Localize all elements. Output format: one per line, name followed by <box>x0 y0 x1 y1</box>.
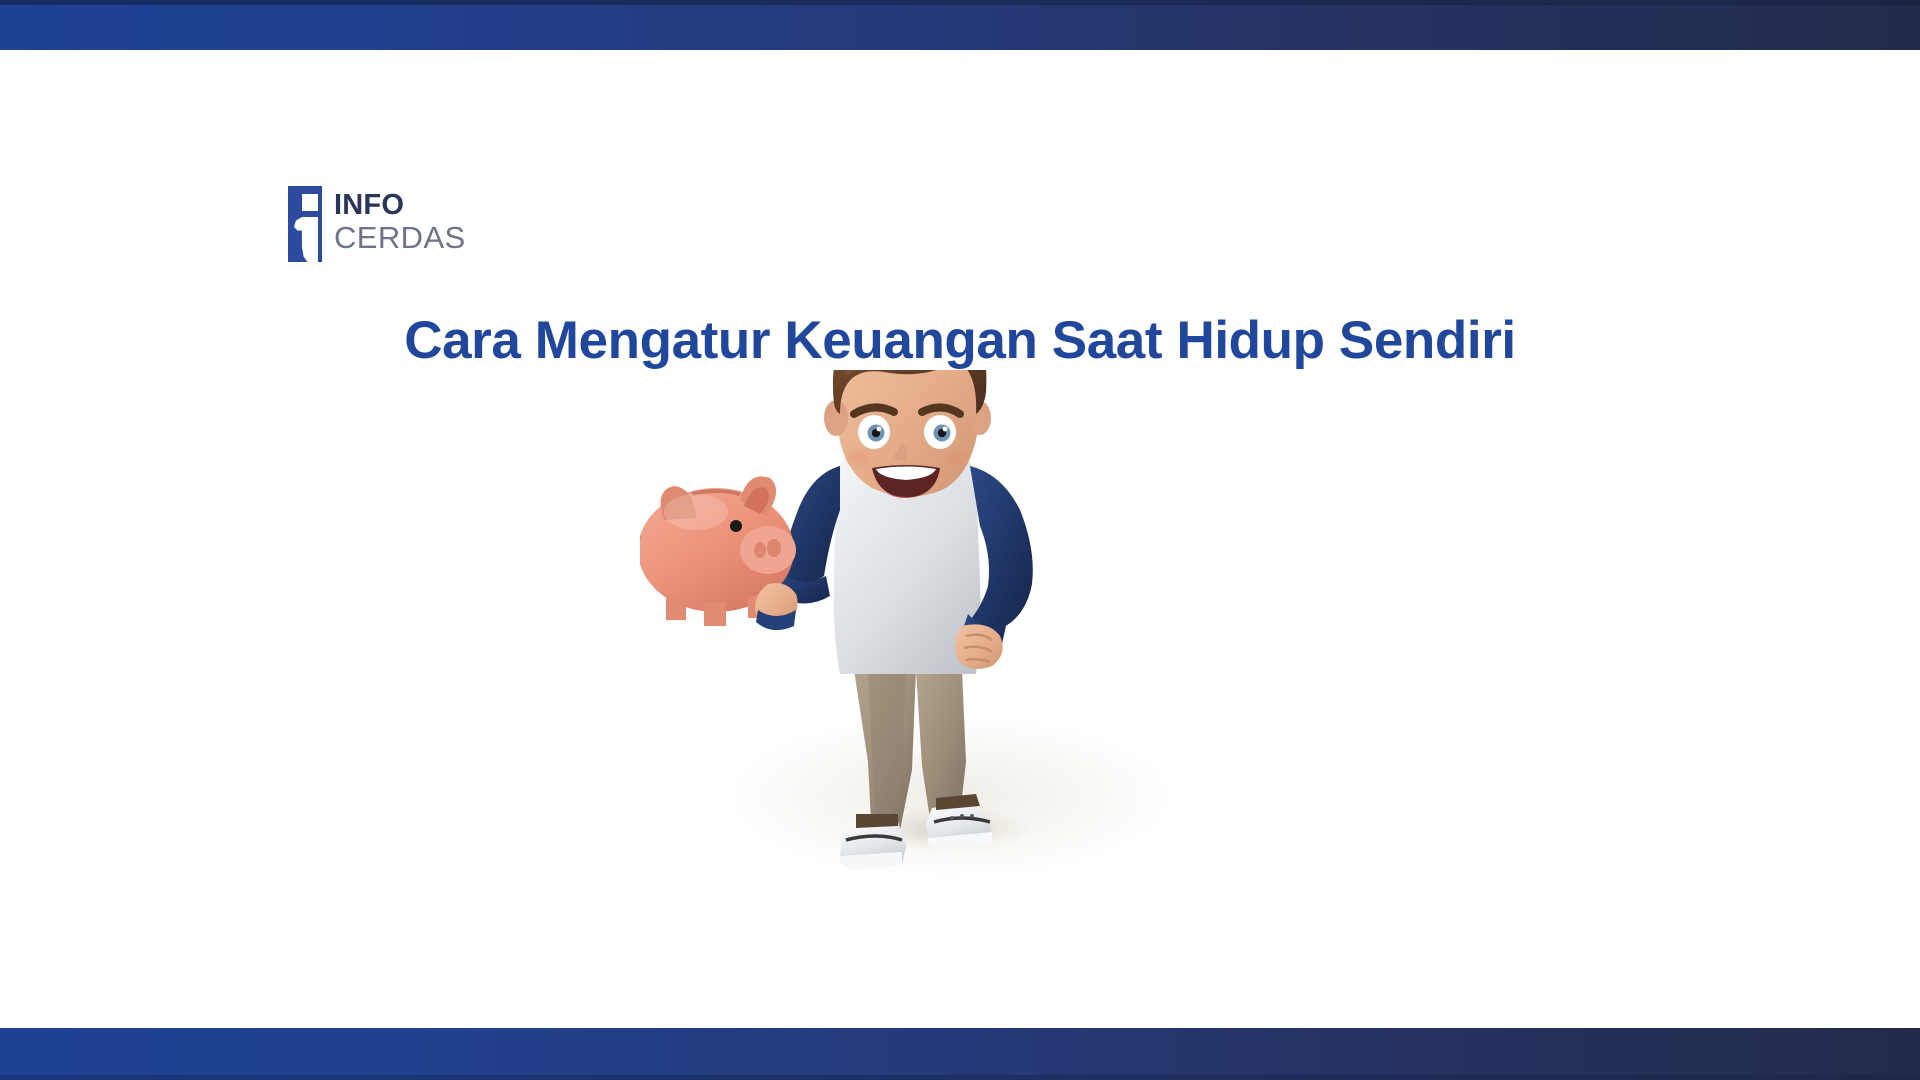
logo-text-cerdas: CERDAS <box>334 222 466 253</box>
top-accent-bar <box>0 0 1920 50</box>
logo-text-info: INFO <box>334 191 466 220</box>
slide-canvas: INFO CERDAS Cara Mengatur Keuangan Saat … <box>0 0 1920 1080</box>
logo-wordmark: INFO CERDAS <box>334 186 466 253</box>
bottom-accent-bar <box>0 1028 1920 1080</box>
logo-i-dot <box>302 194 318 211</box>
boy-character-illustration <box>640 370 1260 900</box>
logo-mark-icon <box>288 186 322 262</box>
logo-i-stem <box>294 217 318 262</box>
brand-logo[interactable]: INFO CERDAS <box>288 186 466 262</box>
illustration-boy-with-piggy-bank <box>640 370 1260 900</box>
slide-title: Cara Mengatur Keuangan Saat Hidup Sendir… <box>0 310 1920 371</box>
